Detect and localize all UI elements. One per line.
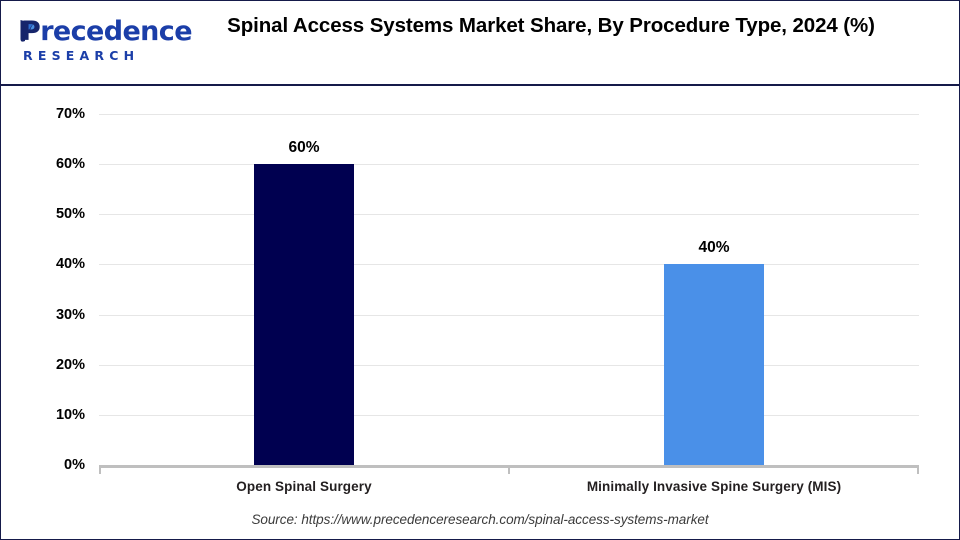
gridline-20 [99, 365, 919, 366]
gridline-50 [99, 214, 919, 215]
page-title: Spinal Access Systems Market Share, By P… [181, 11, 921, 40]
category-label-2: Minimally Invasive Spine Surgery (MIS) [504, 479, 924, 494]
y-axis-tick-labels: 70%60%50%40%30%20%10%0% [17, 1, 85, 540]
x-axis-tick-middle [508, 467, 510, 474]
y-tick-label-40: 40% [17, 256, 85, 272]
y-tick-label-70: 70% [17, 106, 85, 122]
y-tick-label-0: 0% [17, 457, 85, 473]
source-caption: Source: https://www.precedenceresearch.c… [1, 512, 959, 527]
y-tick-label-20: 20% [17, 357, 85, 373]
category-label-1: Open Spinal Surgery [94, 479, 514, 494]
gridline-10 [99, 415, 919, 416]
chart-header: Precedence RESEARCH Spinal Access System… [1, 1, 959, 86]
bar-1[interactable] [254, 164, 354, 465]
bar-value-label-1: 60% [234, 139, 374, 157]
gridline-70 [99, 114, 919, 115]
x-axis-tick-left [99, 467, 101, 474]
gridline-40 [99, 264, 919, 265]
bar-value-label-2: 40% [644, 239, 784, 257]
gridline-60 [99, 164, 919, 165]
gridline-30 [99, 315, 919, 316]
bar-2[interactable] [664, 264, 764, 465]
plot-area [99, 114, 919, 466]
x-axis-tick-right [917, 467, 919, 474]
y-tick-label-60: 60% [17, 156, 85, 172]
y-tick-label-50: 50% [17, 206, 85, 222]
y-tick-label-30: 30% [17, 307, 85, 323]
y-tick-label-10: 10% [17, 407, 85, 423]
chart-figure: Precedence RESEARCH Spinal Access System… [0, 0, 960, 540]
